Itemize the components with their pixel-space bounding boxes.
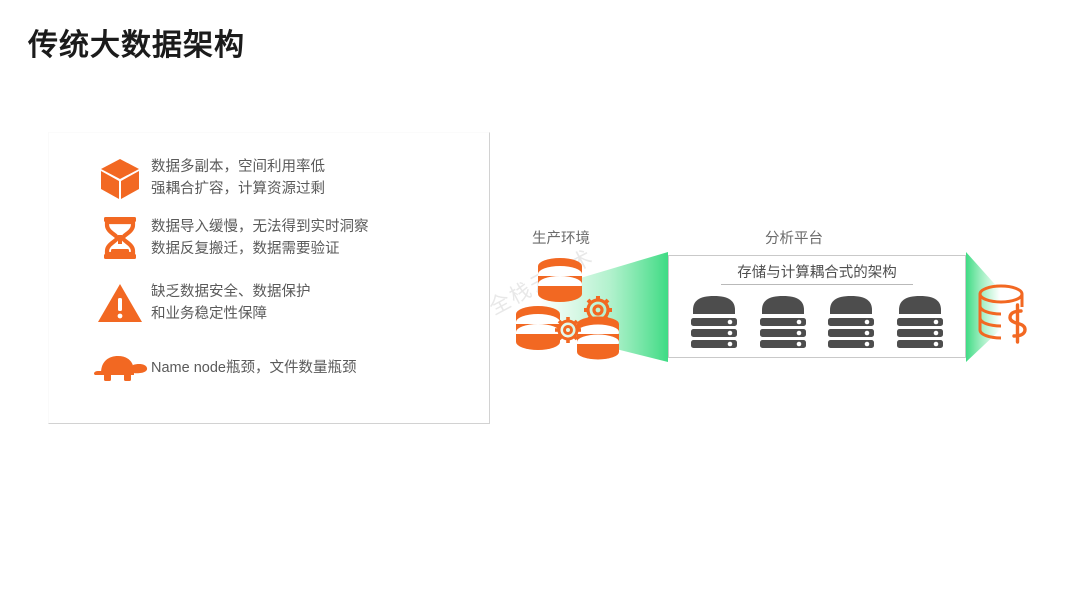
server-rack-icon [683,290,745,352]
architecture-box-title: 存储与计算耦合式的架构 [669,261,965,282]
architecture-box: 存储与计算耦合式的架构 [668,255,966,358]
architecture-diagram: 全栈云技术 生产环境 分析平台 [0,0,1080,608]
label-analytics: 分析平台 [765,227,823,248]
database-gears-icon [516,252,636,362]
server-rack-icon [820,290,882,352]
title-underline [721,284,913,285]
server-rack-row [683,290,951,352]
server-rack-icon [889,290,951,352]
server-rack-icon [752,290,814,352]
label-production: 生产环境 [532,227,590,248]
slide-canvas: 传统大数据架构 数据多副本，空间利用率低 强耦合扩容，计算资源过剩 [0,0,1080,608]
database-dollar-icon [973,281,1039,351]
